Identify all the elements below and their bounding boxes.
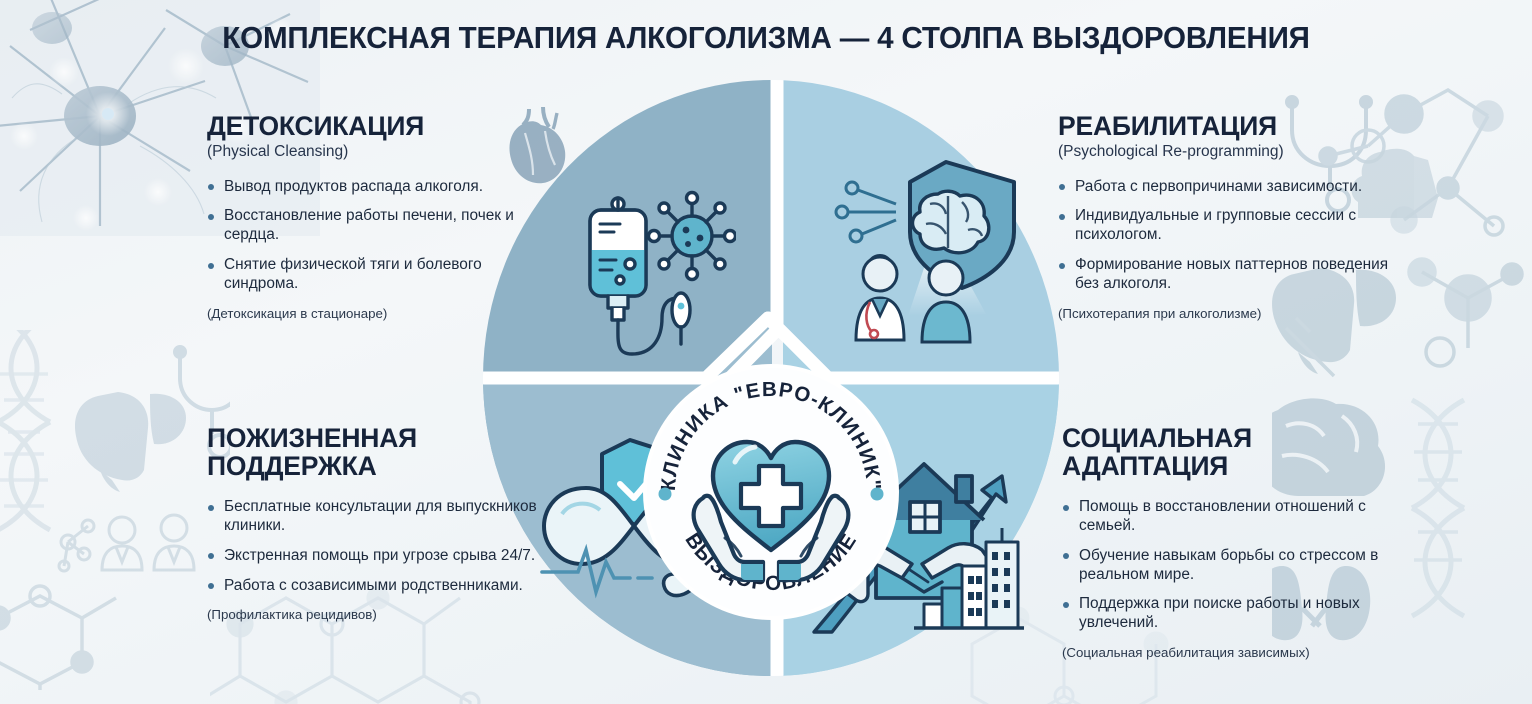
list-item: Работа с первопричинами зависимости. — [1058, 178, 1410, 197]
liver-icon — [75, 392, 186, 492]
list-item: Снятие физической тяги и болевого синдро… — [207, 256, 559, 294]
badge-dot-right — [871, 488, 884, 501]
doctor-figures-icon — [102, 515, 194, 570]
center-badge[interactable]: КЛИНИКА "ЕВРО-КЛИНИК" ВЫЗДОРОВЛЕНИЕ — [641, 362, 901, 622]
medical-watermark-left — [0, 330, 230, 690]
molecule-icon — [1409, 259, 1522, 366]
list-item: Обучение навыкам борьбы со стрессом в ре… — [1062, 547, 1414, 585]
list-item: Вывод продуктов распада алкоголя. — [207, 178, 559, 197]
list-item: Работа с созависимыми родственниками. — [207, 577, 559, 596]
badge-dot-left — [659, 488, 672, 501]
page-title-text: КОМПЛЕКСНАЯ ТЕРАПИЯ АЛКОГОЛИЗМА — 4 СТОЛ… — [23, 22, 1509, 56]
list-item: Экстренная помощь при угрозе срыва 24/7. — [207, 547, 559, 566]
pillar-lifelong-support-bullets: Бесплатные консультации для выпускников … — [207, 498, 559, 595]
list-item: Индивидуальные и групповые сессии с псих… — [1058, 207, 1410, 245]
pillar-rehabilitation-subtitle: (Psychological Re-programming) — [1058, 143, 1410, 162]
dna-helix-icon — [1412, 400, 1464, 616]
pillar-detox-bullets: Вывод продуктов распада алкоголя. Восста… — [207, 178, 559, 294]
pillar-rehabilitation-bullets: Работа с первопричинами зависимости. Инд… — [1058, 178, 1410, 294]
molecule-icon — [0, 586, 116, 690]
doctor-figure-icon — [856, 254, 904, 340]
pillar-social-adaptation-bullets: Помощь в восстановлении отношений с семь… — [1062, 498, 1414, 633]
pillar-detox-note: (Детоксикация в стационаре) — [207, 306, 559, 322]
brain-shield-therapy-icon — [834, 156, 1034, 348]
iv-drip-and-virus-icon — [576, 186, 736, 376]
list-item: Формирование новых паттернов поведения б… — [1058, 256, 1410, 294]
pillar-rehabilitation-title: РЕАБИЛИТАЦИЯ — [1058, 112, 1410, 140]
page-title: КОМПЛЕКСНАЯ ТЕРАПИЯ АЛКОГОЛИЗМА — 4 СТОЛ… — [0, 22, 1532, 56]
list-item: Восстановление работы печени, почек и се… — [207, 207, 559, 245]
pillar-social-adaptation-note: (Социальная реабилитация зависимых) — [1062, 645, 1414, 661]
molecule-icon — [59, 520, 94, 571]
pillar-social-adaptation-title: СОЦИАЛЬНАЯ АДАПТАЦИЯ — [1062, 424, 1414, 480]
list-item: Поддержка при поиске работы и новых увле… — [1062, 595, 1414, 633]
pillar-lifelong-support-title: ПОЖИЗНЕННАЯ ПОДДЕРЖКА — [207, 424, 559, 480]
pillar-lifelong-support: ПОЖИЗНЕННАЯ ПОДДЕРЖКА Бесплатные консуль… — [207, 424, 559, 623]
dna-helix-icon — [0, 330, 50, 530]
pillar-rehabilitation-note: (Психотерапия при алкоголизме) — [1058, 306, 1410, 322]
pillar-detox-title: ДЕТОКСИКАЦИЯ — [207, 112, 559, 140]
recovery-wheel-diagram: КЛИНИКА "ЕВРО-КЛИНИК" ВЫЗДОРОВЛЕНИЕ — [476, 78, 1066, 678]
pillar-detox: ДЕТОКСИКАЦИЯ (Physical Cleansing) Вывод … — [207, 112, 559, 322]
list-item: Помощь в восстановлении отношений с семь… — [1062, 498, 1414, 536]
pillar-social-adaptation: СОЦИАЛЬНАЯ АДАПТАЦИЯ Помощь в восстановл… — [1062, 424, 1414, 661]
syringe-icon — [1286, 318, 1334, 376]
infographic-canvas: КОМПЛЕКСНАЯ ТЕРАПИЯ АЛКОГОЛИЗМА — 4 СТОЛ… — [0, 0, 1532, 704]
pillar-rehabilitation: РЕАБИЛИТАЦИЯ (Psychological Re-programmi… — [1058, 112, 1410, 322]
list-item: Бесплатные консультации для выпускников … — [207, 498, 559, 536]
pillar-detox-subtitle: (Physical Cleansing) — [207, 143, 559, 162]
pillar-lifelong-support-note: (Профилактика рецидивов) — [207, 607, 559, 623]
